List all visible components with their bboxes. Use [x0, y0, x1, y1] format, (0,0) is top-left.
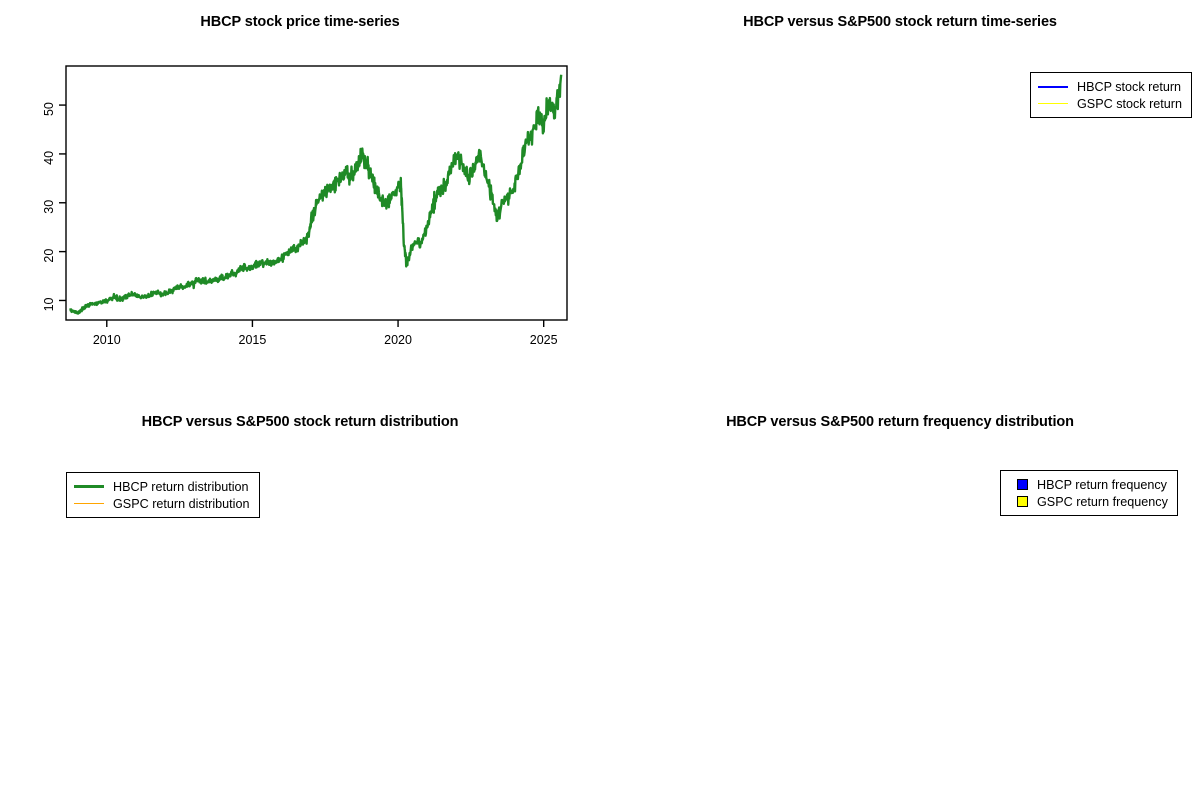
x-tick-label: 2015	[239, 333, 267, 347]
panel-return-distribution: HBCP versus S&P500 stock return distribu…	[0, 400, 600, 800]
legend-item: GSPC stock return	[1038, 95, 1182, 112]
price-timeseries-plot: 10203040502010201520202025	[0, 0, 600, 400]
legend-label: GSPC return frequency	[1037, 495, 1168, 509]
box-swatch-gspc-icon	[1017, 496, 1028, 507]
y-tick-label: 40	[42, 151, 56, 165]
x-tick-label: 2025	[530, 333, 558, 347]
legend-item: HBCP return distribution	[74, 478, 250, 495]
panel-title: HBCP versus S&P500 stock return distribu…	[0, 414, 600, 430]
legend-return-frequency: HBCP return frequency GSPC return freque…	[1000, 470, 1178, 516]
box-swatch-hbcp-icon	[1017, 479, 1028, 490]
legend-label: GSPC stock return	[1077, 97, 1182, 111]
line-swatch-hbcp-icon	[1038, 86, 1068, 88]
line-swatch-hbcp-icon	[74, 485, 104, 488]
y-tick-label: 30	[42, 200, 56, 214]
y-tick-label: 50	[42, 102, 56, 116]
legend-label: GSPC return distribution	[113, 497, 250, 511]
x-tick-label: 2010	[93, 333, 121, 347]
line-swatch-gspc-icon	[1038, 103, 1068, 104]
price-line-hbcp	[70, 75, 561, 314]
legend-label: HBCP return frequency	[1037, 478, 1167, 492]
return-timeseries-plot: -0.2-0.10.00.12010201520202025	[600, 0, 1200, 400]
panel-title: HBCP stock price time-series	[0, 14, 600, 30]
panel-title: HBCP versus S&P500 stock return time-ser…	[600, 14, 1200, 30]
legend-return-timeseries: HBCP stock return GSPC stock return	[1030, 72, 1192, 118]
return-frequency-plot: 0500100015002000[-0.253,-0.239)[-0.153,-…	[600, 400, 1200, 800]
x-tick-label: 2020	[384, 333, 412, 347]
legend-item: HBCP stock return	[1038, 78, 1182, 95]
legend-return-distribution: HBCP return distribution GSPC return dis…	[66, 472, 260, 518]
return-distribution-plot: 0102030405060-0.2-0.10.00.1	[0, 400, 600, 800]
line-swatch-gspc-icon	[74, 503, 104, 504]
panel-return-frequency: HBCP versus S&P500 return frequency dist…	[600, 400, 1200, 800]
legend-label: HBCP return distribution	[113, 480, 249, 494]
y-tick-label: 10	[42, 297, 56, 311]
legend-item: HBCP return frequency	[1008, 476, 1168, 493]
legend-item: GSPC return distribution	[74, 495, 250, 512]
panel-price-timeseries: HBCP stock price time-series 10203040502…	[0, 0, 600, 400]
panel-return-timeseries: HBCP versus S&P500 stock return time-ser…	[600, 0, 1200, 400]
y-tick-label: 20	[42, 249, 56, 263]
figure-grid: HBCP stock price time-series 10203040502…	[0, 0, 1200, 800]
legend-item: GSPC return frequency	[1008, 493, 1168, 510]
plot-frame	[66, 66, 567, 320]
legend-label: HBCP stock return	[1077, 80, 1181, 94]
panel-title: HBCP versus S&P500 return frequency dist…	[600, 414, 1200, 430]
